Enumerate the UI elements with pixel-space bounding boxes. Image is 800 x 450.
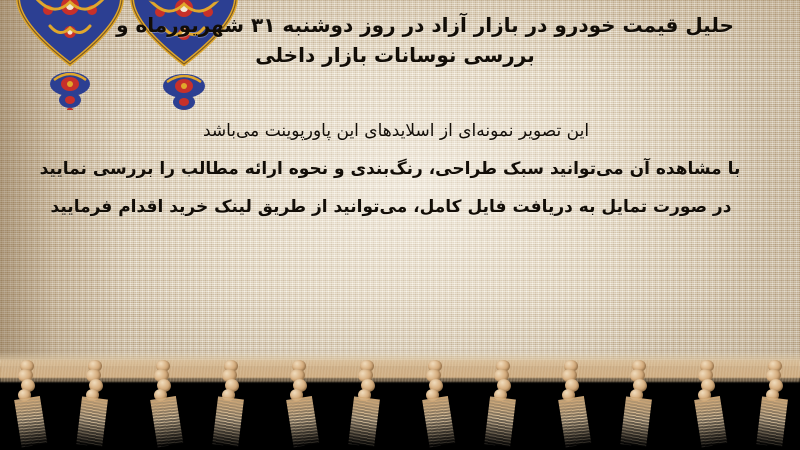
fringe-tassel bbox=[692, 358, 722, 448]
body-line-design-review: با مشاهده آن می‌توانید سبک طراحی، رنگ‌بن… bbox=[38, 150, 742, 188]
fringe-tassel bbox=[12, 358, 42, 448]
slide-title-line-1: حلیل قیمت خودرو در بازار آزاد در روز دوش… bbox=[50, 10, 800, 40]
fringe-tassel bbox=[80, 358, 110, 448]
body-line-purchase-link: در صورت تمایل به دریافت فایل کامل، می‌تو… bbox=[38, 188, 744, 226]
fringe-tassel bbox=[148, 358, 178, 448]
fringe-tassel bbox=[352, 358, 382, 448]
slide-title: حلیل قیمت خودرو در بازار آزاد در روز دوش… bbox=[50, 10, 740, 70]
slide-title-line-2: بررسی نوسانات بازار داخلی bbox=[50, 40, 740, 70]
body-line-sample-notice: این تصویر نمونه‌ای از اسلایدهای این پاور… bbox=[38, 112, 754, 150]
fringe-tassel bbox=[420, 358, 450, 448]
selvedge-fuzz bbox=[0, 360, 800, 382]
fringe-tassel bbox=[624, 358, 654, 448]
slide-body-text: این تصویر نمونه‌ای از اسلایدهای این پاور… bbox=[38, 112, 738, 226]
carpet-fringe bbox=[0, 352, 800, 450]
fringe-tassel bbox=[760, 358, 790, 448]
fringe-tassel bbox=[216, 358, 246, 448]
fringe-tassel bbox=[488, 358, 518, 448]
fringe-tassel bbox=[556, 358, 586, 448]
presentation-slide: حلیل قیمت خودرو در بازار آزاد در روز دوش… bbox=[0, 0, 800, 450]
fringe-tassel bbox=[284, 358, 314, 448]
